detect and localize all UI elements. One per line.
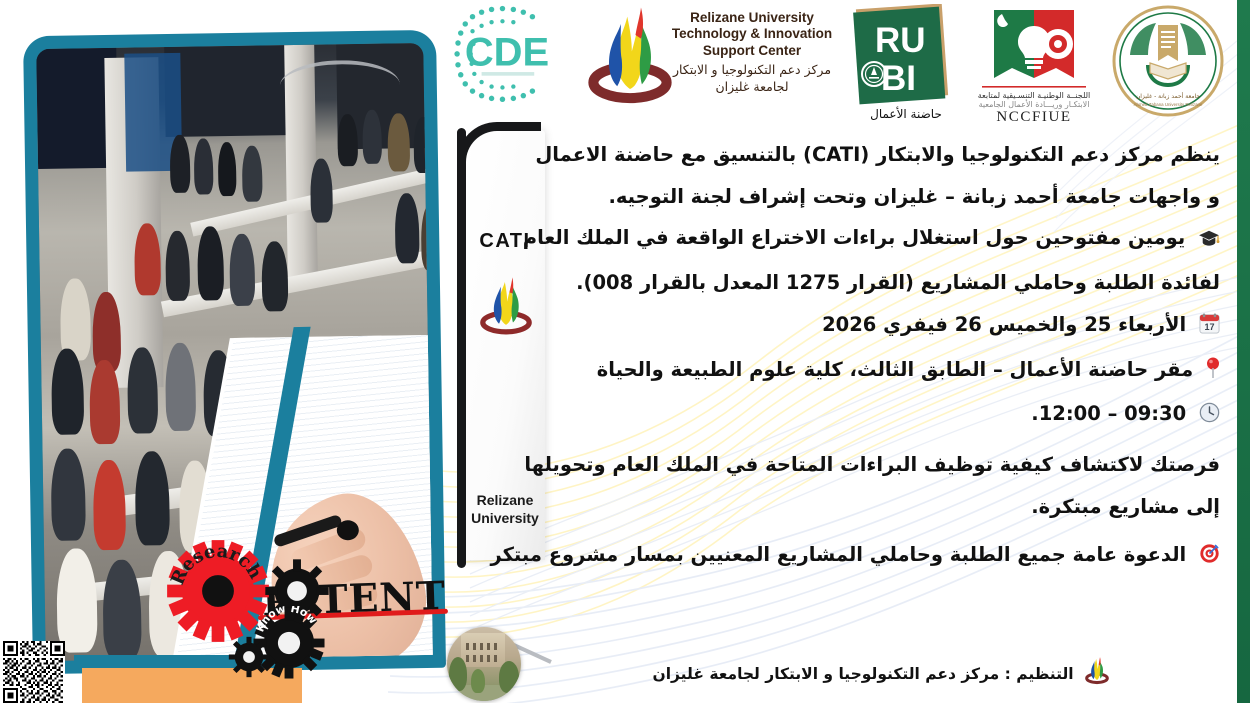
body-line-2-text: و واجهات جامعة أحمد زبانة – غليزان وتحت … [608, 185, 1220, 208]
header-logos: CDE Relizane University Technology & Inn… [447, 0, 1237, 132]
nccfiue-ar-line2: الابتكـار وريـــادة الأعمال الجامعية [979, 99, 1090, 109]
target-icon [1199, 543, 1220, 571]
body-line-9-text: إلى مشاريع مبتكرة. [1031, 495, 1220, 518]
cati-en-line1: Relizane University [662, 10, 842, 26]
graduation-cap-icon [1198, 228, 1220, 254]
body-line-3: يومين مفتوحين حول استغلال براءات الاخترا… [520, 225, 1220, 254]
cati-ar-line1: مركز دعم التكنولوجيا و الابتكار [662, 62, 842, 79]
footer-cati-flame-icon [1084, 655, 1110, 690]
nccfiue-ar-line1: اللجنــة الوطنيـة التنسـيقية لمتابعة [978, 91, 1091, 100]
body-line-9: إلى مشاريع مبتكرة. [520, 494, 1220, 520]
university-seal-en: Ahmed Zabana University Relizane [1134, 102, 1203, 107]
rubi-logo: RU BI حاضنة الأعمال [851, 4, 961, 124]
footer-organizer-text: التنظيم : مركز دعم التكنولوجيا و الابتكا… [653, 665, 1074, 683]
body-line-10: الدعوة عامة جميع الطلبة وحاملي المشاريع … [520, 542, 1220, 571]
body-line-8: فرصتك لاكتشاف كيفية توظيف البراءات المتا… [520, 452, 1220, 478]
rubi-caption: حاضنة الأعمال [870, 106, 942, 121]
body-line-5-text: الأربعاء 25 والخميس 26 فيفري 2026 [822, 313, 1186, 336]
body-line-6-text: مقر حاضنة الأعمال – الطابق الثالث، كلية … [597, 358, 1193, 381]
cde-logo-text: CDE [465, 31, 549, 75]
body-line-4: لفائدة الطلبة وحاملي المشاريع (القرار 12… [520, 270, 1220, 296]
university-seal: جامعة أحمد زبانة - غليزان Ahmed Zabana U… [1112, 5, 1224, 117]
body-line-10-text: الدعوة عامة جميع الطلبة وحاملي المشاريع … [490, 543, 1186, 566]
body-line-4-text: لفائدة الطلبة وحاملي المشاريع (القرار 12… [576, 271, 1220, 294]
body-line-2: و واجهات جامعة أحمد زبانة – غليزان وتحت … [520, 184, 1220, 210]
body-line-6: مقر حاضنة الأعمال – الطابق الثالث، كلية … [520, 357, 1220, 386]
nccfiue-acronym: NCCFIUE [996, 109, 1071, 125]
cati-ar-line2: لجامعة غليزان [662, 79, 842, 96]
poster-root: PATENT [0, 0, 1250, 703]
body-line-7: 09:30 – 12:00. [520, 401, 1220, 430]
clock-icon [1199, 402, 1220, 430]
right-green-stripe [1237, 0, 1250, 703]
body-line-1: ينظم مركز دعم التكنولوجيا والابتكار (CAT… [520, 142, 1220, 168]
small-gear-icon [228, 636, 270, 682]
body-line-5: 17 الأربعاء 25 والخميس 26 فيفري 2026 [520, 312, 1220, 341]
map-pin-icon [1206, 357, 1220, 386]
university-seal-ar: جامعة أحمد زبانة - غليزان [1136, 92, 1201, 100]
cati-center-name: Relizane University Technology & Innovat… [662, 10, 842, 96]
nccfiue-logo: اللجنــة الوطنيـة التنسـيقية لمتابعة الا… [972, 4, 1096, 128]
cati-en-line2: Technology & Innovation [662, 26, 842, 42]
cati-en-line3: Support Center [662, 43, 842, 59]
footer-organizer: التنظيم : مركز دعم التكنولوجيا و الابتكا… [470, 655, 1110, 690]
body-line-8-text: فرصتك لاكتشاف كيفية توظيف البراءات المتا… [524, 453, 1220, 476]
calendar-day-number: 17 [1204, 322, 1214, 332]
qr-code[interactable] [3, 641, 65, 703]
body-line-1-text: ينظم مركز دعم التكنولوجيا والابتكار (CAT… [535, 143, 1220, 166]
poster-body: ينظم مركز دعم التكنولوجيا والابتكار (CAT… [520, 142, 1220, 654]
calendar-icon: 17 [1199, 313, 1220, 341]
body-line-7-text: 09:30 – 12:00. [1031, 402, 1186, 425]
rubi-seal-icon [862, 62, 886, 86]
cde-logo: CDE [452, 4, 562, 102]
rubi-text-bottom: BI [881, 59, 916, 98]
body-line-3-text: يومين مفتوحين حول استغلال براءات الاخترا… [523, 226, 1185, 249]
rubi-text-top: RU [875, 21, 926, 60]
